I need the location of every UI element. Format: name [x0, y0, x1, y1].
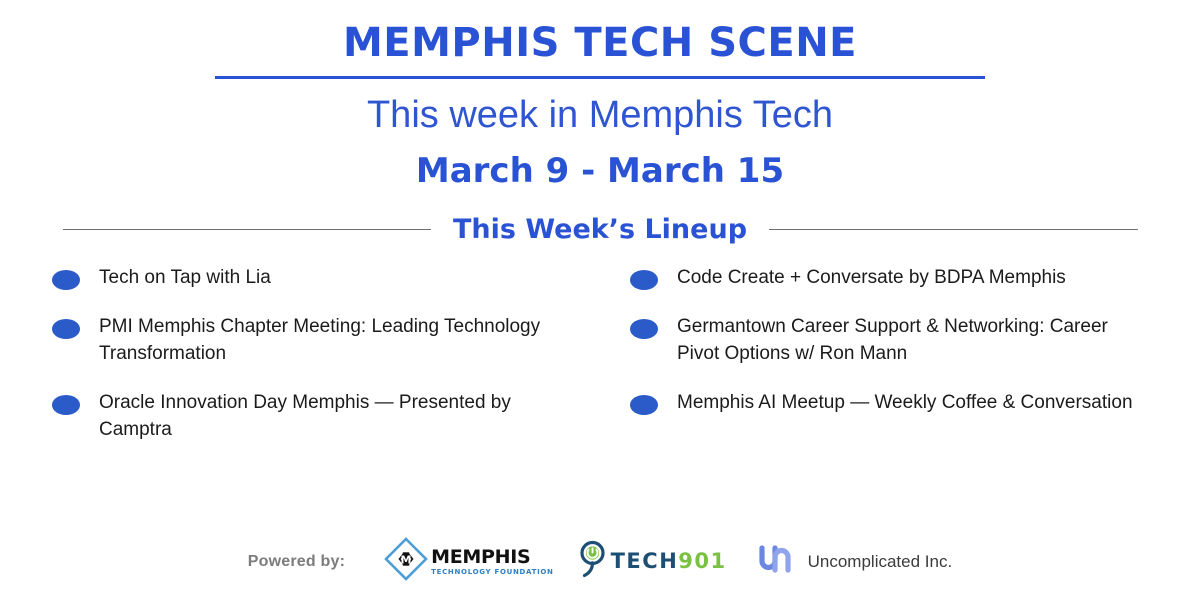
footer: Powered by: M MEMPHIS TECHNOLOGY FOUNDAT…: [0, 536, 1200, 587]
list-item[interactable]: Memphis AI Meetup — Weekly Coffee & Conv…: [630, 390, 1148, 417]
tech901-name-part1: TECH: [611, 549, 679, 573]
memphis-name: MEMPHIS: [431, 548, 553, 567]
list-item[interactable]: PMI Memphis Chapter Meeting: Leading Tec…: [52, 314, 600, 368]
lineup-heading-band: This Week’s Lineup: [63, 216, 1138, 243]
event-column-left: Tech on Tap with Lia PMI Memphis Chapter…: [52, 265, 600, 466]
bullet-dot-icon: [630, 319, 658, 339]
bullet-dot-icon: [52, 319, 80, 339]
event-title: PMI Memphis Chapter Meeting: Leading Tec…: [99, 314, 569, 368]
list-item[interactable]: Code Create + Conversate by BDPA Memphis: [630, 265, 1148, 292]
lineup-heading: This Week’s Lineup: [431, 216, 769, 243]
event-title: Memphis AI Meetup — Weekly Coffee & Conv…: [677, 390, 1133, 417]
list-item[interactable]: Germantown Career Support & Networking: …: [630, 314, 1148, 368]
sponsor-logo-tech901[interactable]: TECH901: [578, 540, 727, 583]
memphis-tagline: TECHNOLOGY FOUNDATION: [431, 569, 553, 576]
uncomplicated-loops-icon: [755, 542, 795, 581]
tech901-power-nine-icon: [578, 540, 608, 583]
bullet-dot-icon: [52, 270, 80, 290]
list-item[interactable]: Oracle Innovation Day Memphis — Presente…: [52, 390, 600, 444]
event-title: Germantown Career Support & Networking: …: [677, 314, 1148, 368]
bullet-dot-icon: [630, 395, 658, 415]
event-title: Tech on Tap with Lia: [99, 265, 271, 292]
tech901-name-part2: 901: [678, 549, 726, 573]
date-range: March 9 - March 15: [0, 153, 1200, 190]
tech901-wordmark: TECH901: [611, 551, 727, 572]
event-title: Oracle Innovation Day Memphis — Presente…: [99, 390, 569, 444]
powered-by-label: Powered by:: [248, 553, 345, 571]
page-subtitle: This week in Memphis Tech: [0, 95, 1200, 137]
event-title: Code Create + Conversate by BDPA Memphis: [677, 265, 1066, 292]
page-title: MEMPHIS TECH SCENE: [0, 22, 1200, 64]
sponsor-logo-memphis-technology-foundation[interactable]: M MEMPHIS TECHNOLOGY FOUNDATION: [383, 536, 553, 587]
memphis-wordmark: MEMPHIS TECHNOLOGY FOUNDATION: [431, 548, 553, 576]
title-underline-rule: [215, 76, 985, 79]
event-column-right: Code Create + Conversate by BDPA Memphis…: [600, 265, 1148, 466]
bullet-dot-icon: [630, 270, 658, 290]
bullet-dot-icon: [52, 395, 80, 415]
svg-text:M: M: [401, 554, 412, 567]
event-list: Tech on Tap with Lia PMI Memphis Chapter…: [0, 265, 1200, 466]
uncomplicated-wordmark: Uncomplicated Inc.: [808, 553, 953, 570]
header: MEMPHIS TECH SCENE This week in Memphis …: [0, 0, 1200, 190]
lineup-rule-right: [769, 229, 1137, 230]
sponsor-logo-uncomplicated-inc[interactable]: Uncomplicated Inc.: [755, 542, 953, 581]
list-item[interactable]: Tech on Tap with Lia: [52, 265, 600, 292]
memphis-diamond-icon: M: [383, 536, 429, 587]
lineup-rule-left: [63, 229, 431, 230]
